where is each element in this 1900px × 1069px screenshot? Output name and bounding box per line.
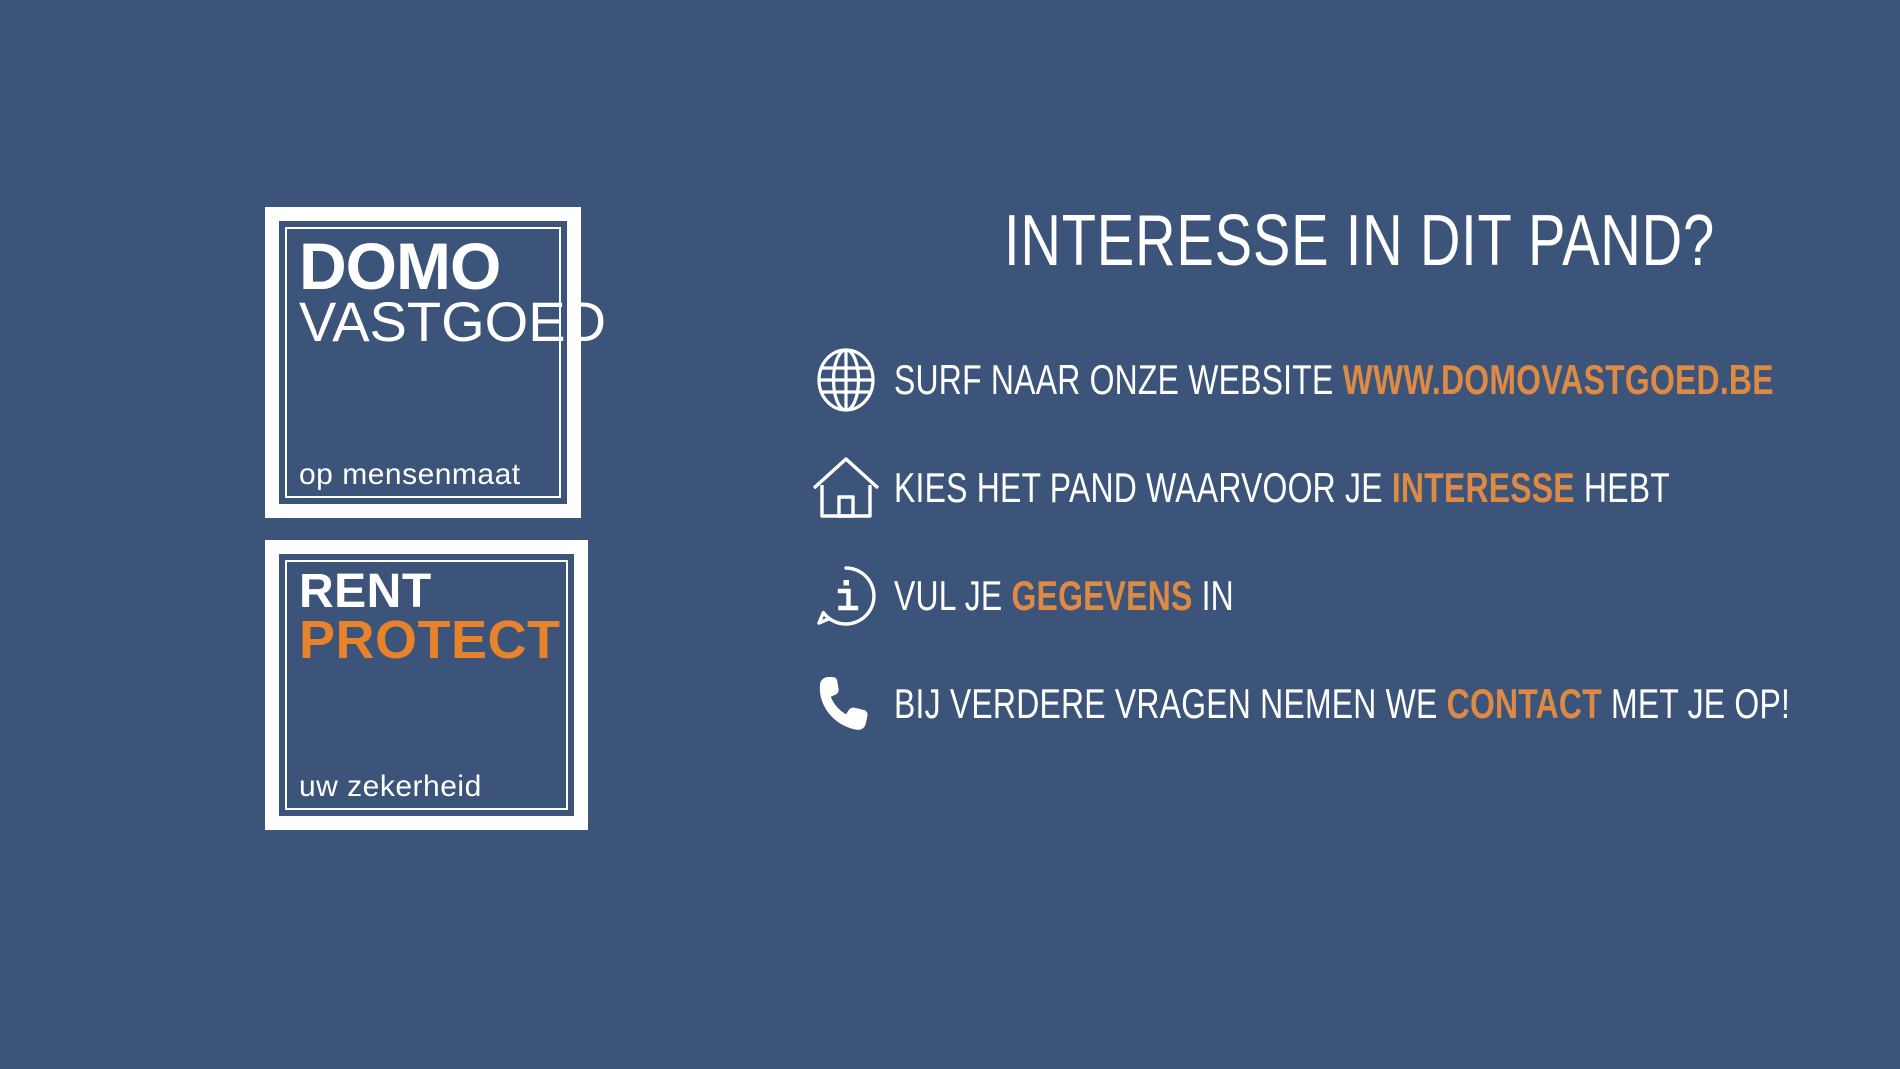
bullet-website-pre: SURF NAAR ONZE WEBSITE (894, 356, 1343, 403)
bullet-website-accent[interactable]: WWW.DOMOVASTGOED.BE (1343, 356, 1774, 403)
domo-logo-subwordmark: VASTGOED (299, 294, 547, 350)
page-title: INTERESSE IN DIT PAND? (927, 200, 1754, 282)
info-bubble-icon (810, 560, 882, 632)
bullet-row-property: KIES HET PAND WAARVOOR JE INTERESSE HEBT (810, 434, 1870, 542)
rent-protect-logo: RENT PROTECT uw zekerheid (265, 540, 588, 830)
phone-icon (810, 668, 882, 740)
bullet-details-accent: GEGEVENS (1012, 572, 1193, 619)
domo-logo-tagline: op mensenmaat (299, 458, 547, 492)
bullet-property-pre: KIES HET PAND WAARVOOR JE (894, 464, 1392, 511)
globe-icon (810, 344, 882, 416)
bullet-row-details: VUL JE GEGEVENS IN (810, 542, 1870, 650)
bullet-details-post: IN (1192, 572, 1233, 619)
bullet-row-contact: BIJ VERDERE VRAGEN NEMEN WE CONTACT MET … (810, 650, 1870, 758)
bullet-contact-accent: CONTACT (1447, 680, 1602, 727)
domo-vastgoed-logo: DOMO VASTGOED op mensenmaat (265, 207, 581, 518)
domo-logo-wordmark: DOMO (299, 235, 547, 298)
bullet-contact-pre: BIJ VERDERE VRAGEN NEMEN WE (894, 680, 1447, 727)
bullet-text-property: KIES HET PAND WAARVOOR JE INTERESSE HEBT (894, 464, 1670, 512)
content-column: INTERESSE IN DIT PAND? SURF NAAR ONZE WE… (810, 200, 1870, 758)
bullet-row-website: SURF NAAR ONZE WEBSITE WWW.DOMOVASTGOED.… (810, 326, 1870, 434)
bullet-contact-post: MET JE OP! (1602, 680, 1790, 727)
rent-logo-tagline: uw zekerheid (299, 770, 554, 804)
bullet-property-post: HEBT (1575, 464, 1670, 511)
rent-logo-wordmark: RENT (299, 568, 554, 616)
bullet-text-details: VUL JE GEGEVENS IN (894, 572, 1234, 620)
house-icon (810, 452, 882, 524)
logo-column: DOMO VASTGOED op mensenmaat RENT PROTECT… (265, 207, 585, 830)
protect-logo-wordmark: PROTECT (299, 613, 554, 667)
bullet-text-website: SURF NAAR ONZE WEBSITE WWW.DOMOVASTGOED.… (894, 356, 1774, 404)
bullet-property-accent: INTERESSE (1392, 464, 1575, 511)
bullet-text-contact: BIJ VERDERE VRAGEN NEMEN WE CONTACT MET … (894, 680, 1790, 728)
bullet-details-pre: VUL JE (894, 572, 1012, 619)
